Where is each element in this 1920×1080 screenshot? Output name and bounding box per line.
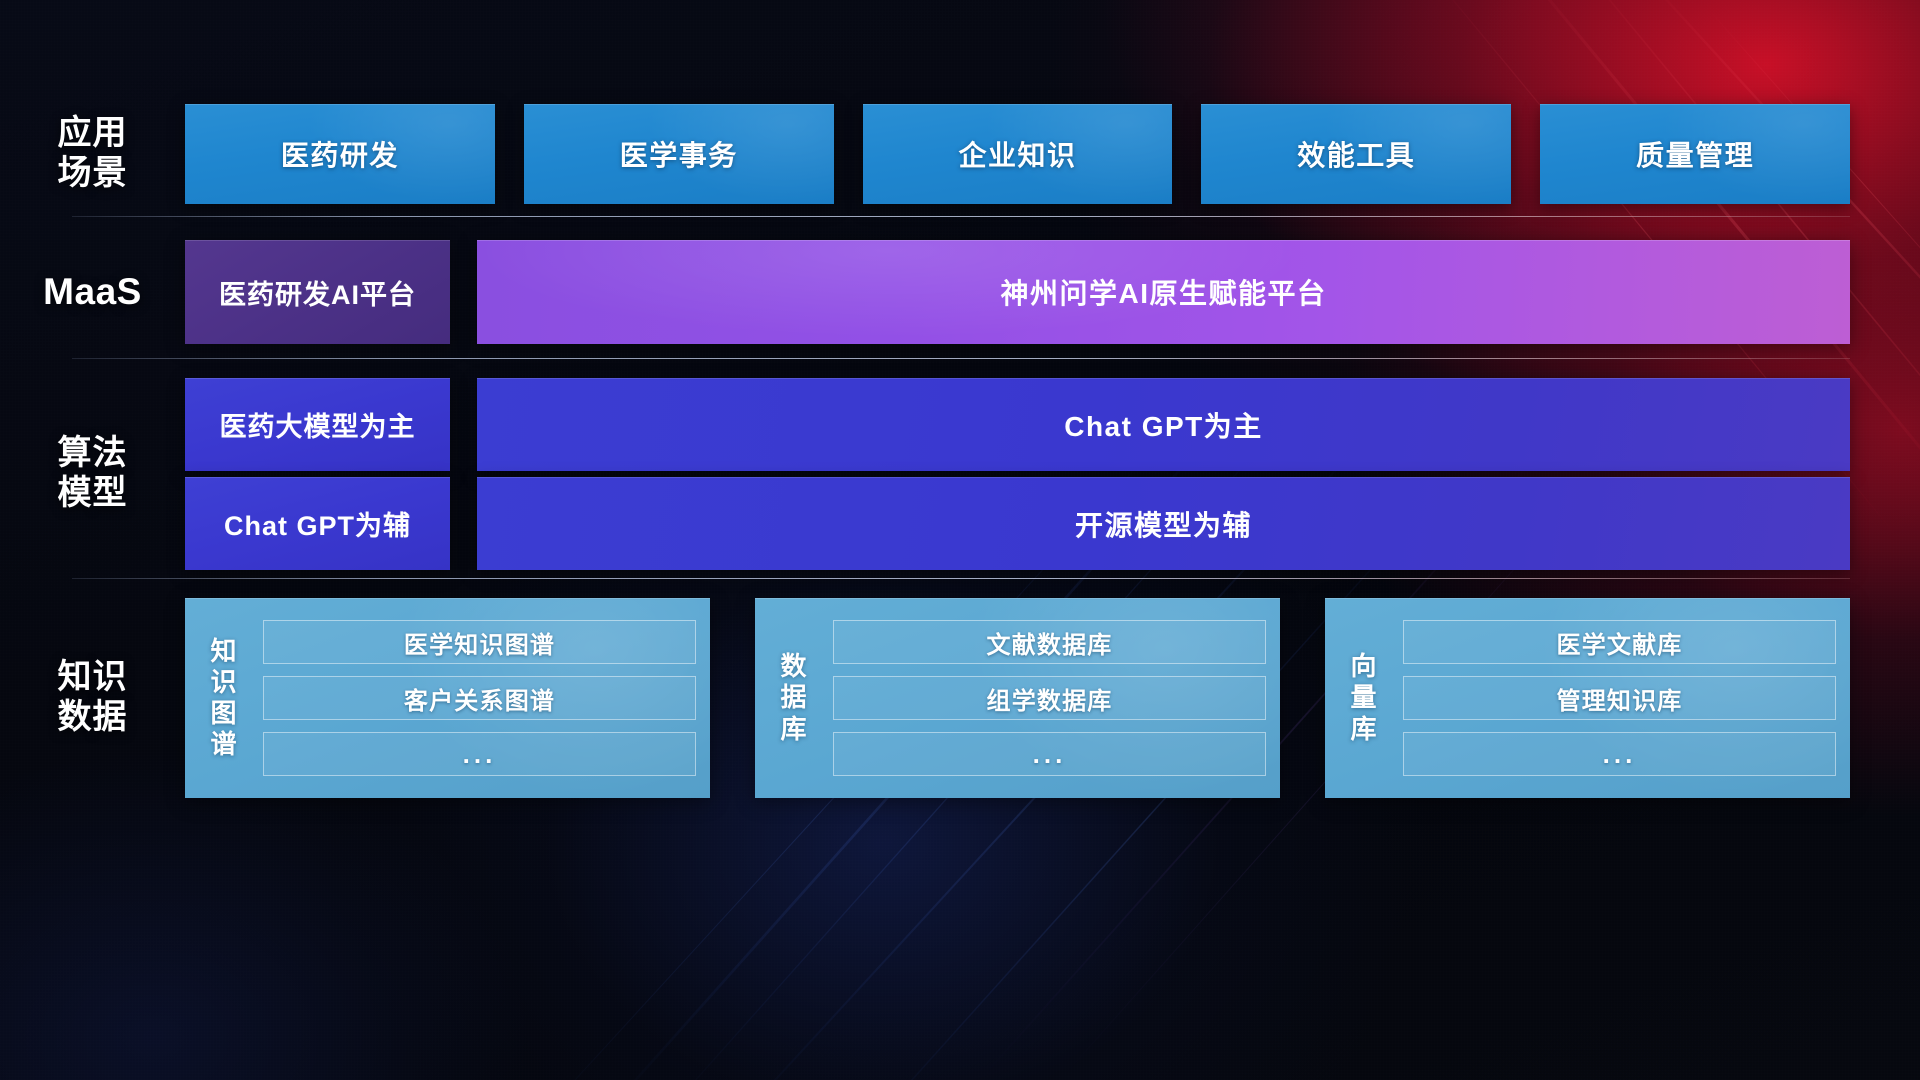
rail-label-knowledge: 知识 数据 [0, 658, 185, 738]
knowledge-item-list: 文献数据库 组学数据库 ... [833, 608, 1266, 788]
row-algorithm-model: 算法 模型 医药大模型为主 Chat GPT为主 Chat GPT为辅 开源模型… [0, 378, 1920, 570]
knowledge-group-list: 知 识 图 谱 医学知识图谱 客户关系图谱 ... 数 据 库 文献数据库 组学… [185, 598, 1850, 798]
knowledge-item-list: 医学知识图谱 客户关系图谱 ... [263, 608, 696, 788]
knowledge-item-literature-database[interactable]: 文献数据库 [833, 620, 1266, 664]
knowledge-group-database[interactable]: 数 据 库 文献数据库 组学数据库 ... [755, 598, 1280, 798]
algo-card-label: Chat GPT为辅 [224, 504, 411, 543]
algo-card-medicine-llm-primary[interactable]: 医药大模型为主 [185, 378, 450, 471]
knowledge-group-label: 向 量 库 [1325, 608, 1403, 788]
knowledge-item-medical-knowledge-graph[interactable]: 医学知识图谱 [263, 620, 696, 664]
algo-card-label: 医药大模型为主 [220, 405, 416, 444]
divider-application-maas [72, 216, 1850, 217]
knowledge-group-label: 数 据 库 [755, 608, 833, 788]
app-card-medicine-rd[interactable]: 医药研发 [185, 104, 495, 204]
knowledge-group-label: 知 识 图 谱 [185, 608, 263, 788]
knowledge-item-management-knowledge-store[interactable]: 管理知识库 [1403, 676, 1836, 720]
knowledge-group-knowledge-graph[interactable]: 知 识 图 谱 医学知识图谱 客户关系图谱 ... [185, 598, 710, 798]
row-maas: MaaS 医药研发AI平台 神州问学AI原生赋能平台 [0, 240, 1920, 344]
divider-maas-algorithm [72, 358, 1850, 359]
knowledge-item-list: 医学文献库 管理知识库 ... [1403, 608, 1836, 788]
maas-card-label: 神州问学AI原生赋能平台 [1000, 272, 1326, 312]
maas-card-label: 医药研发AI平台 [219, 273, 416, 312]
divider-algorithm-knowledge [72, 578, 1850, 579]
algo-card-opensource-secondary[interactable]: 开源模型为辅 [477, 477, 1850, 570]
maas-card-shenzhou-wenxue-platform[interactable]: 神州问学AI原生赋能平台 [477, 240, 1850, 344]
rail-label-algorithm: 算法 模型 [0, 378, 185, 570]
maas-card-list: 医药研发AI平台 神州问学AI原生赋能平台 [185, 240, 1850, 344]
app-card-label: 医学事务 [620, 134, 738, 174]
knowledge-item-more[interactable]: ... [1403, 732, 1836, 776]
row-knowledge-data: 知识 数据 知 识 图 谱 医学知识图谱 客户关系图谱 ... 数 据 库 文献… [0, 598, 1920, 798]
architecture-diagram: 应用 场景 医药研发 医学事务 企业知识 效能工具 质量管理 [0, 0, 1920, 1080]
app-card-quality-management[interactable]: 质量管理 [1540, 104, 1850, 204]
app-card-label: 医药研发 [281, 134, 399, 174]
algo-card-label: 开源模型为辅 [1075, 504, 1252, 544]
rail-label-maas: MaaS [0, 270, 185, 313]
app-card-label: 效能工具 [1297, 134, 1415, 174]
knowledge-item-omics-database[interactable]: 组学数据库 [833, 676, 1266, 720]
knowledge-item-customer-relation-graph[interactable]: 客户关系图谱 [263, 676, 696, 720]
app-card-label: 企业知识 [958, 134, 1076, 174]
algo-card-chatgpt-secondary[interactable]: Chat GPT为辅 [185, 477, 450, 570]
knowledge-group-vector-store[interactable]: 向 量 库 医学文献库 管理知识库 ... [1325, 598, 1850, 798]
knowledge-item-medical-literature-store[interactable]: 医学文献库 [1403, 620, 1836, 664]
application-card-list: 医药研发 医学事务 企业知识 效能工具 质量管理 [185, 104, 1850, 204]
algorithm-row-secondary: Chat GPT为辅 开源模型为辅 [185, 477, 1850, 570]
app-card-enterprise-knowledge[interactable]: 企业知识 [863, 104, 1173, 204]
app-card-medical-affairs[interactable]: 医学事务 [524, 104, 834, 204]
maas-card-medicine-ai-platform[interactable]: 医药研发AI平台 [185, 240, 450, 344]
row-application-scenarios: 应用 场景 医药研发 医学事务 企业知识 效能工具 质量管理 [0, 104, 1920, 204]
knowledge-item-more[interactable]: ... [263, 732, 696, 776]
rail-label-application: 应用 场景 [0, 114, 185, 194]
algo-card-label: Chat GPT为主 [1064, 405, 1263, 445]
algorithm-row-primary: 医药大模型为主 Chat GPT为主 [185, 378, 1850, 471]
knowledge-item-more[interactable]: ... [833, 732, 1266, 776]
app-card-efficiency-tools[interactable]: 效能工具 [1201, 104, 1511, 204]
app-card-label: 质量管理 [1636, 134, 1754, 174]
algo-card-chatgpt-primary[interactable]: Chat GPT为主 [477, 378, 1850, 471]
